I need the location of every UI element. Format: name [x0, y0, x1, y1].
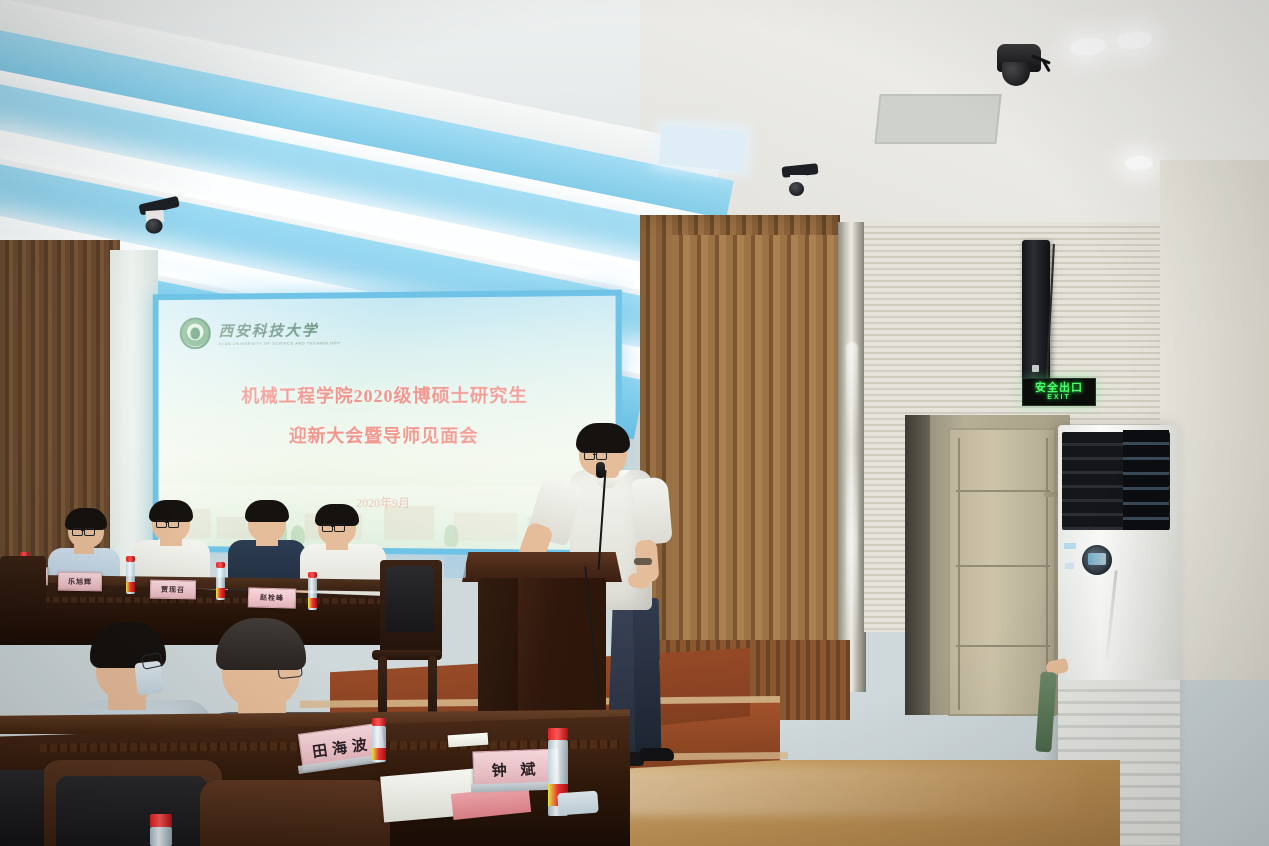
nameplate-back-2: 乐旭辉: [58, 572, 102, 592]
wall-panel-center-wood-slats: [672, 235, 840, 685]
face-mask-on-table: [557, 791, 598, 816]
attendee-striped-glasses-icon: [277, 661, 303, 679]
hall-door[interactable]: [948, 428, 1056, 716]
podium-monitor: [444, 556, 466, 578]
air-conditioner-side-vent: [1123, 430, 1169, 530]
chair-front-right[interactable]: [200, 780, 390, 846]
presenter-wristwatch: [634, 558, 652, 565]
ceiling-camera-right-icon: [782, 165, 826, 199]
water-bottle-front-3: [372, 718, 386, 762]
chair-front-left-cushion: [56, 776, 208, 846]
exit-sign-english-label: EXIT: [1047, 394, 1071, 402]
presenter-arm-right-sleeve: [631, 477, 673, 546]
exit-sign-chinese-label: 安全出口: [1035, 383, 1083, 394]
metal-column: [838, 222, 866, 692]
nameplate-back-4: 赵栓峰: [248, 587, 297, 608]
presenter-shoe-right: [640, 748, 674, 761]
podium-side-shadow: [478, 578, 518, 728]
pillar-left: [110, 250, 158, 580]
chair-front-far-left[interactable]: [0, 770, 44, 846]
water-bottle-back-2: [126, 556, 135, 594]
nameplate-back-3: 贾现召: [150, 580, 196, 600]
wall-speaker: [1022, 240, 1050, 380]
floor-reflection: [600, 766, 1080, 816]
water-bottle-front-2: [150, 814, 172, 846]
downlight-3: [1125, 156, 1153, 170]
presenter-leg-right: [633, 598, 662, 756]
presenter-hair: [576, 423, 630, 453]
ptz-dome-camera-icon: [997, 44, 1047, 88]
air-conditioner-indicator-2: [1065, 563, 1074, 569]
exit-sign: 安全出口 EXIT: [1022, 378, 1096, 406]
ceiling-camera-left-icon: [139, 199, 185, 238]
water-bottle-back-3: [216, 562, 225, 600]
door-recess-shadow: [905, 415, 931, 715]
chair-back-right-seatback: [386, 566, 434, 632]
air-conditioner-indicator-1: [1064, 543, 1076, 549]
chair-back-left[interactable]: [0, 556, 46, 622]
panelist-2-hair: [149, 500, 193, 522]
panelist-1-hair: [65, 508, 107, 530]
conference-hall-photo: 安全出口 EXIT: [0, 0, 1269, 846]
panelist-4-hair: [315, 504, 359, 526]
ceiling-air-vent: [874, 94, 1001, 144]
air-conditioner-display-readout: [1088, 553, 1106, 565]
recessed-ceiling-panel-light: [658, 124, 746, 171]
panelist-3-hair: [245, 500, 289, 522]
water-bottle-back-4: [308, 572, 317, 610]
